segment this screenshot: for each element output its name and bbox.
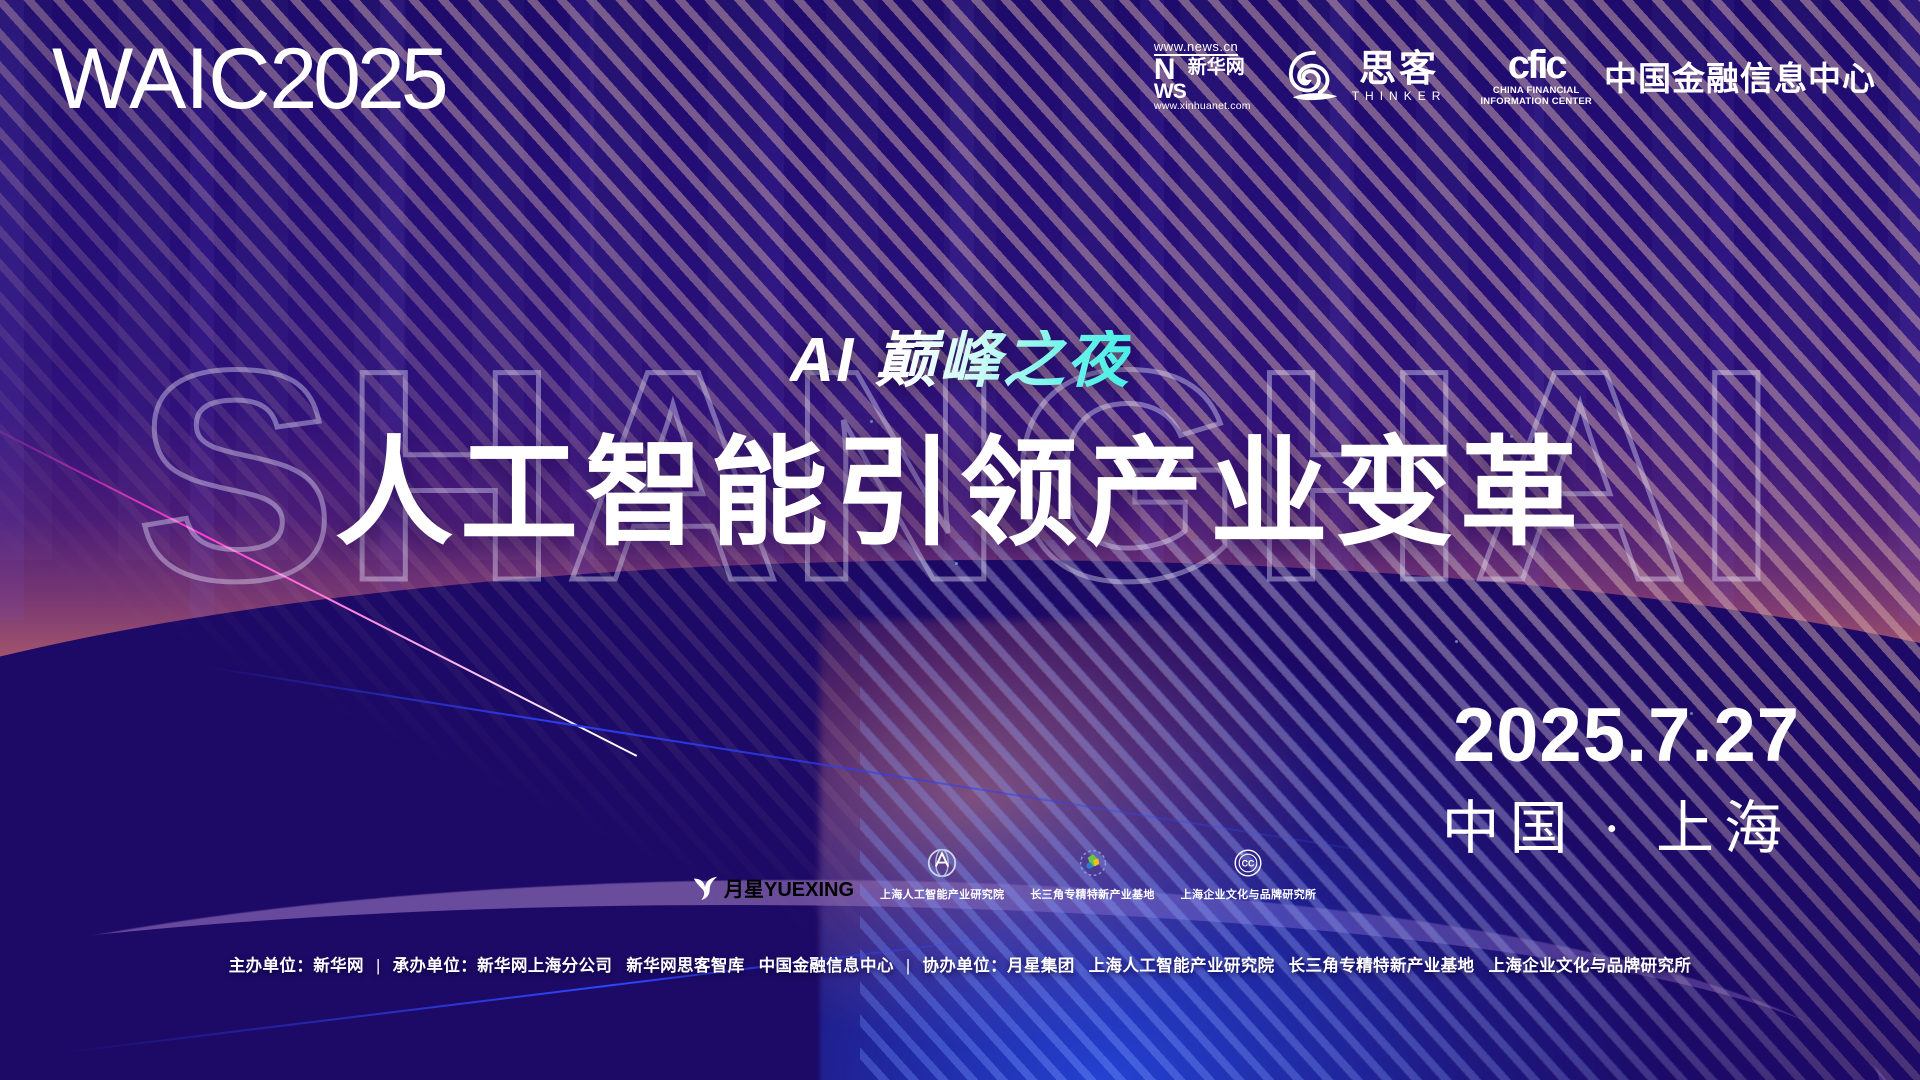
cfic-logo: cfic CHINA FINANCIAL INFORMATION CENTER … [1480, 45, 1876, 108]
poster-canvas: SHANGHAI WAIC2025 www.news.cn N WS 新华网 w… [0, 0, 1920, 1080]
sponsor-saiir: 上海人工智能产业研究院 [880, 848, 1004, 902]
sponsor-yuexing: 月星YUEXING [690, 872, 854, 902]
host-label: 主办单位：新华网 [229, 957, 364, 975]
thinker-cn: 思客 [1359, 50, 1439, 87]
event-subtitle: AI 巅峰之夜 [789, 330, 1130, 392]
credit-separator-1: | [364, 957, 393, 975]
cfic-en-line1: CHINA FINANCIAL [1493, 85, 1580, 96]
organizer-2: 新华网思客智库 [626, 957, 744, 975]
sponsor-logo-row: 月星YUEXING 上海人工智能产业研究院 长三角 [690, 848, 1316, 902]
thinker-en: THINKER [1352, 90, 1447, 102]
xinhuanet-wordmark: N WS 新华网 [1154, 58, 1245, 100]
yuexing-label: 月星YUEXING [724, 873, 854, 902]
partner-logo-bar: www.news.cn N WS 新华网 www.xinhuanet.com 思… [1154, 34, 1876, 118]
saiir-globe-icon [927, 848, 957, 883]
xinhuanet-logo: www.news.cn N WS 新华网 www.xinhuanet.com [1154, 40, 1251, 111]
coorganizer-label: 协办单位：月星集团 [923, 957, 1075, 975]
waic-logo: WAIC2025 [52, 36, 445, 122]
yuexing-cn: 月星 [724, 879, 764, 901]
cfic-en-line2: INFORMATION CENTER [1480, 96, 1592, 107]
brand-institute-label: 上海企业文化与品牌研究所 [1181, 886, 1317, 902]
saiir-label: 上海人工智能产业研究院 [880, 886, 1004, 902]
thinker-swirl-icon [1285, 47, 1343, 105]
coorganizer-2: 上海人工智能产业研究院 [1089, 957, 1275, 975]
waic-logo-text: WAIC [52, 31, 269, 127]
organizer-credits: 主办单位：新华网|承办单位：新华网上海分公司新华网思客智库中国金融信息中心|协办… [0, 952, 1920, 976]
waic-logo-year: 2025 [269, 31, 444, 127]
cfic-abbr: cfic [1508, 45, 1565, 85]
credit-separator-2: | [894, 957, 923, 975]
xinhuanet-ws: WS [1154, 83, 1186, 100]
organizer-3: 中国金融信息中心 [759, 957, 894, 975]
sponsor-brand-institute: CC 上海企业文化与品牌研究所 [1181, 848, 1317, 902]
thinker-wordmark: 思客 THINKER [1352, 50, 1447, 102]
cfic-en: CHINA FINANCIAL INFORMATION CENTER [1480, 86, 1592, 108]
thinker-logo: 思客 THINKER [1285, 47, 1447, 105]
yangtze-base-label: 长三角专精特新产业基地 [1030, 886, 1154, 902]
event-date: 2025.7.27 [1453, 698, 1800, 774]
event-city: 中国 · 上海 [1442, 800, 1792, 858]
coorganizer-3: 长三角专精特新产业基地 [1289, 957, 1475, 975]
svg-text:CC: CC [1242, 859, 1255, 869]
yuexing-star-icon [690, 872, 720, 902]
cfic-cn: 中国金融信息中心 [1604, 52, 1876, 100]
sponsor-yangtze-base: 长三角专精特新产业基地 [1030, 848, 1154, 902]
event-headline: 人工智能引领产业变革 [335, 435, 1585, 553]
yangtze-base-icon [1078, 848, 1108, 883]
xinhuanet-url-bottom: www.xinhuanet.com [1154, 101, 1251, 112]
brand-institute-icon: CC [1233, 848, 1263, 883]
cfic-mark: cfic CHINA FINANCIAL INFORMATION CENTER [1480, 45, 1592, 108]
organizer-label: 承办单位：新华网上海分公司 [393, 957, 613, 975]
yuexing-en: YUEXING [764, 879, 854, 901]
xinhuanet-cn: 新华网 [1188, 58, 1245, 78]
coorganizer-4: 上海企业文化与品牌研究所 [1488, 957, 1691, 975]
